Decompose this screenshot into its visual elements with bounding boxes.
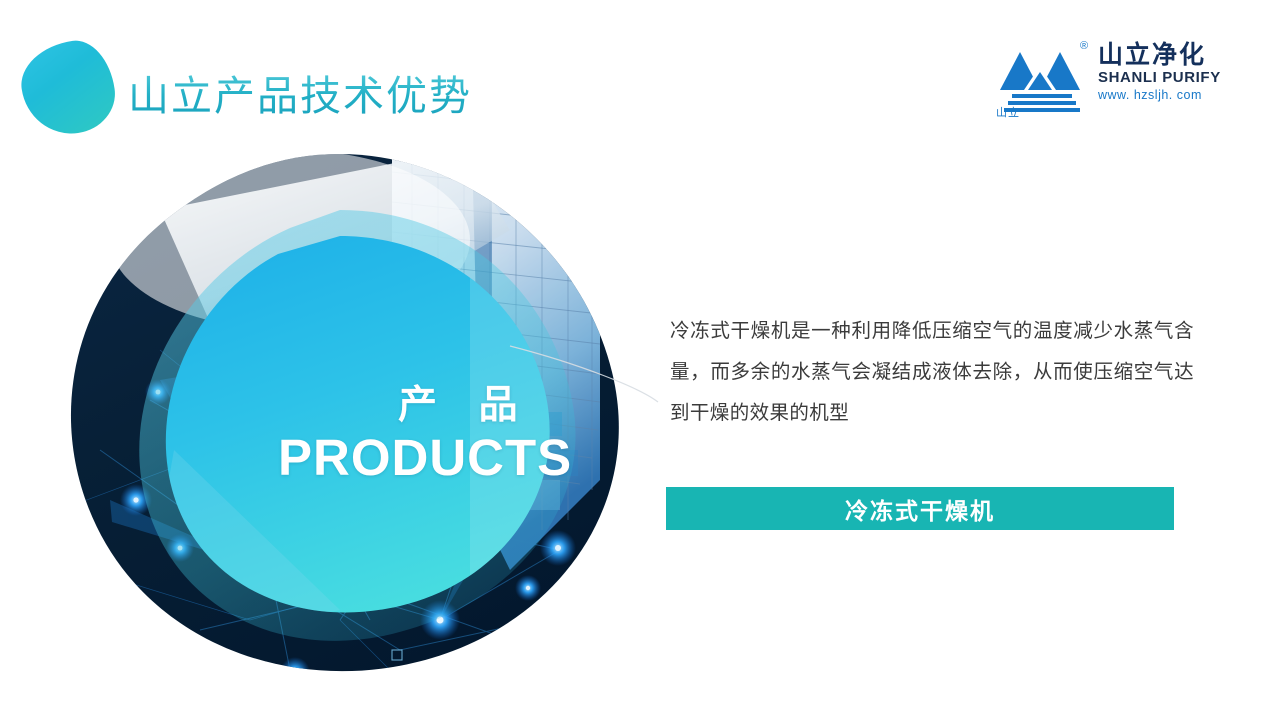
product-name-label: 冷冻式干燥机	[845, 492, 995, 526]
logo-company-cn: 山立净化	[1098, 42, 1224, 68]
logo-text-block: 山立净化 SHANLI PURIFY www. hzsljh. com	[1098, 42, 1224, 102]
company-logo: ® 山立 山立净化 SHANLI PURIFY www. hzsljh. com	[994, 38, 1222, 120]
product-graphic: 产 品 PRODUCTS	[40, 150, 660, 680]
registered-trademark-icon: ®	[1080, 40, 1088, 52]
header-blob-icon	[16, 36, 120, 140]
slide-root: 山立产品技术优势 ® 山立 山立净化 SHANLI PURIFY www. hz…	[0, 0, 1280, 720]
logo-mark-caption: 山立	[996, 104, 1020, 120]
logo-website: www. hzsljh. com	[1098, 88, 1224, 102]
product-name-banner: 冷冻式干燥机	[666, 487, 1174, 530]
product-description: 冷冻式干燥机是一种利用降低压缩空气的温度减少水蒸气含量，而多余的水蒸气会凝结成液…	[670, 310, 1194, 433]
mountain-logo-icon	[994, 40, 1090, 112]
page-title: 山立产品技术优势	[128, 62, 472, 122]
logo-company-en: SHANLI PURIFY	[1098, 69, 1224, 86]
